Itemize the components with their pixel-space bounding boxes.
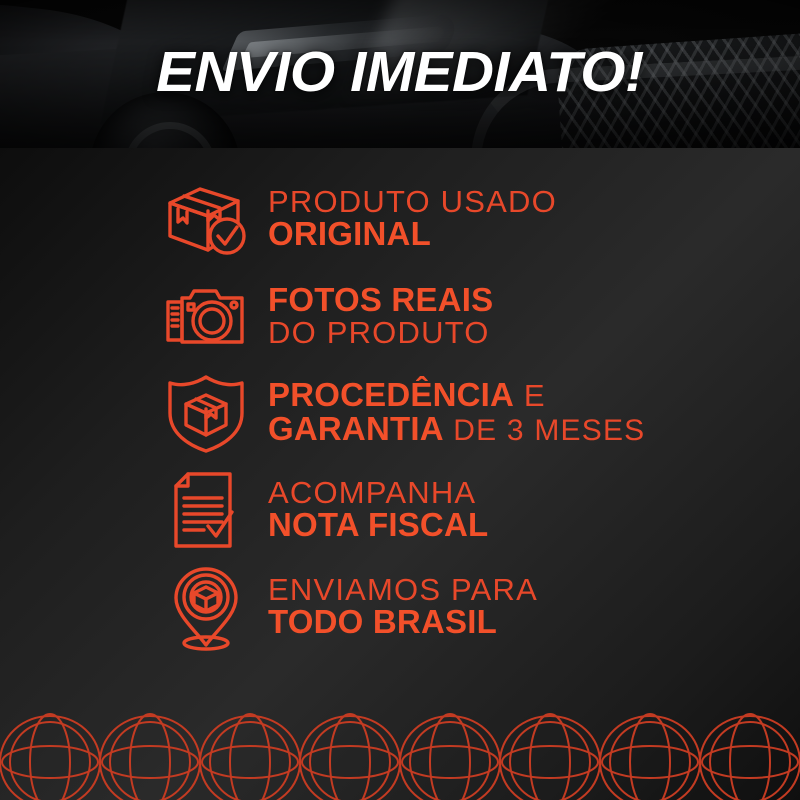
feature-text: ENVIAMOS PARA TODO BRASIL (268, 574, 538, 639)
feature-line-1: ACOMPANHA (268, 477, 488, 509)
location-pin-box-icon (160, 563, 268, 651)
feature-line-1: PRODUTO USADO (268, 186, 557, 218)
feature-text: ACOMPANHA NOTA FISCAL (268, 477, 488, 542)
decorative-pattern (0, 700, 800, 800)
camera-icon (160, 276, 268, 356)
feature-text: FOTOS REAIS DO PRODUTO (268, 283, 493, 348)
feature-row-procedencia-garantia: PROCEDÊNCIA E GARANTIA DE 3 MESES (0, 364, 800, 461)
feature-line-2-light: DE 3 MESES (444, 414, 646, 447)
feature-row-nota-fiscal: ACOMPANHA NOTA FISCAL (0, 461, 800, 558)
headline-text: ENVIO IMEDIATO! (0, 44, 800, 101)
feature-row-produto-original: PRODUTO USADO ORIGINAL (0, 170, 800, 267)
feature-line-2-bold: GARANTIA (268, 410, 444, 447)
feature-list: PRODUTO USADO ORIGINAL (0, 170, 800, 655)
feature-line-2: TODO BRASIL (268, 605, 538, 639)
feature-text: PRODUTO USADO ORIGINAL (268, 186, 557, 251)
package-check-icon (160, 179, 268, 259)
feature-line-1-bold: PROCEDÊNCIA (268, 376, 514, 413)
feature-line-1-light: E (514, 378, 546, 413)
invoice-check-icon (160, 468, 268, 552)
feature-line-2: ORIGINAL (268, 217, 557, 251)
feature-line-2: NOTA FISCAL (268, 508, 488, 542)
feature-row-todo-brasil: ENVIAMOS PARA TODO BRASIL (0, 558, 800, 655)
feature-row-fotos-reais: FOTOS REAIS DO PRODUTO (0, 267, 800, 364)
feature-line-1: ENVIAMOS PARA (268, 574, 538, 606)
feature-line-2: DO PRODUTO (268, 317, 493, 349)
promo-banner: ENVIO IMEDIATO! (0, 0, 800, 800)
feature-line-1: FOTOS REAIS (268, 283, 493, 317)
shield-box-icon (160, 371, 268, 455)
banner-header: ENVIO IMEDIATO! (0, 0, 800, 148)
feature-text: PROCEDÊNCIA E GARANTIA DE 3 MESES (268, 378, 645, 446)
